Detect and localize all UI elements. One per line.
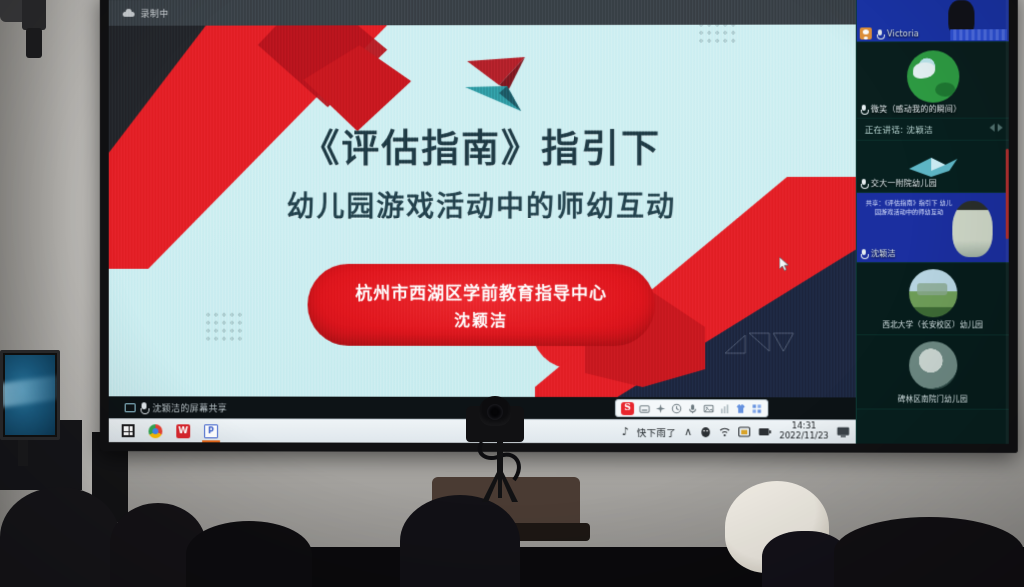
screen-share-label: 沈颖洁的屏幕共享: [152, 401, 227, 414]
ime-floating-toolbar[interactable]: S: [615, 399, 768, 417]
clock-date: 2022/11/23: [779, 431, 828, 441]
wps-icon[interactable]: W: [176, 424, 190, 438]
globe-avatar-icon: [907, 50, 959, 102]
participant-rail[interactable]: Victoria 微笑（感动我的的瞬间） 正在讲话: 沈颖洁: [856, 0, 1009, 444]
participant-tile-xibei[interactable]: 西北大学（长安校区）幼儿园: [857, 263, 1009, 335]
battery-icon[interactable]: [758, 427, 771, 436]
slide-org-line: 杭州市西湖区学前教育指导中心: [355, 279, 607, 304]
clock-time: 14:31: [792, 421, 817, 431]
image-icon[interactable]: [703, 403, 714, 414]
screenshot-icon[interactable]: [738, 426, 750, 437]
audience-head-4: [400, 495, 520, 587]
avatar-icon: [860, 27, 872, 39]
taskbar-clock[interactable]: 14:31 2022/11/23: [779, 422, 828, 442]
camera-tripod: [470, 438, 530, 504]
recording-indicator-bar: 录制中: [109, 0, 856, 26]
audience-head-3: [186, 521, 312, 587]
mic-icon: [861, 249, 867, 258]
sogou-logo-icon[interactable]: S: [621, 402, 634, 415]
mic-icon: [877, 29, 883, 38]
windows-logo-icon[interactable]: [121, 424, 134, 437]
screenshot-root: 录制中: [0, 0, 1024, 587]
taskbar-chrome[interactable]: [143, 420, 169, 442]
participant-share-caption: 共享：《评估指南》指引下 幼儿园游戏活动中的师幼互动: [863, 199, 956, 217]
audience-head-1: [0, 487, 120, 587]
participant-name: 微笑（感动我的的瞬间）: [871, 104, 962, 115]
recording-label: 录制中: [141, 6, 169, 19]
participant-name-row: 微笑（感动我的的瞬间）: [861, 104, 962, 115]
participant-name: 碑林区南院门幼儿园: [857, 393, 1009, 404]
bars-icon[interactable]: [719, 403, 730, 414]
participant-tile-shenyingjie[interactable]: 共享：《评估指南》指引下 幼儿园游戏活动中的师幼互动 沈颖洁: [857, 193, 1009, 263]
mic-icon[interactable]: [687, 403, 698, 414]
chevron-up-icon[interactable]: ∧: [684, 425, 692, 438]
participant-name: Victoria: [887, 29, 919, 38]
taskbar-powerpoint[interactable]: P: [198, 420, 224, 442]
taskbar-wps[interactable]: W: [170, 420, 196, 442]
slide-author-badge: 杭州市西湖区学前教育指导中心 沈颖洁: [308, 264, 656, 346]
powerpoint-icon[interactable]: P: [204, 424, 218, 438]
participant-name: 交大一附院幼儿园: [871, 178, 937, 189]
participant-face: [952, 201, 992, 257]
chevron-left-icon[interactable]: [990, 124, 995, 132]
audience-head-6: [834, 517, 1024, 587]
side-monitor: [0, 350, 60, 440]
active-speaker-label: 正在讲话: 沈颖洁: [865, 123, 933, 135]
side-monitor-screen: [5, 355, 55, 435]
slide-wireframe-arrows: [723, 323, 797, 361]
slide-title: 《评估指南》指引下: [109, 117, 856, 172]
taskbar-spacer: [224, 431, 622, 432]
wall-display: 录制中: [100, 0, 1018, 453]
shirt-icon[interactable]: [735, 403, 746, 414]
participant-tile-smile[interactable]: 微笑（感动我的的瞬间）: [857, 42, 1009, 118]
participant-name: 沈颖洁: [871, 248, 896, 259]
participant-name-row: 沈颖洁: [861, 248, 896, 259]
start-button[interactable]: [115, 420, 141, 442]
system-tray[interactable]: ♪ 快下雨了 ∧ 14:31 2022/11/23: [622, 422, 856, 442]
rail-scrollbar[interactable]: [1006, 0, 1009, 444]
music-note-icon[interactable]: ♪: [622, 425, 629, 438]
participant-tile-decor: [950, 29, 1006, 40]
taskbar-apps[interactable]: W P: [109, 420, 224, 442]
photo-avatar-icon: [909, 341, 957, 389]
slide-dot-grid-left: [204, 311, 244, 345]
slide-presenter-line: 沈颖洁: [454, 307, 508, 331]
landscape-avatar-icon: [909, 269, 957, 317]
cloud-icon: [123, 9, 135, 17]
display-screen: 录制中: [109, 0, 1009, 444]
participant-tile-beilin[interactable]: 碑林区南院门幼儿园: [857, 335, 1009, 409]
qq-icon[interactable]: [700, 426, 711, 438]
meeting-share-area: 录制中: [109, 0, 856, 444]
camera-lens: [479, 396, 511, 426]
grid-icon[interactable]: [751, 403, 762, 414]
side-monitor-stand: [18, 440, 28, 466]
chrome-icon[interactable]: [148, 424, 162, 438]
mic-icon: [141, 402, 148, 413]
meeting-app: 录制中: [109, 0, 1009, 444]
mouse-cursor-icon: [779, 257, 789, 271]
participant-tile-jiaoda[interactable]: 交大一附院幼儿园: [857, 141, 1009, 193]
show-desktop-icon[interactable]: [837, 427, 850, 438]
participant-name-row: Victoria: [877, 29, 919, 38]
monitor-icon: [125, 403, 136, 412]
participant-name: 西北大学（长安校区）幼儿园: [857, 319, 1009, 330]
participant-tile-victoria[interactable]: Victoria: [857, 0, 1009, 43]
presentation-slide: 《评估指南》指引下 幼儿园游戏活动中的师幼互动 杭州市西湖区学前教育指导中心 沈…: [109, 0, 856, 397]
rail-scrollbar-thumb[interactable]: [1006, 149, 1009, 239]
ptz-camera: [466, 396, 524, 442]
chevron-right-icon[interactable]: [998, 124, 1003, 132]
network-icon[interactable]: [719, 426, 730, 437]
mic-icon: [861, 105, 867, 114]
keyboard-icon[interactable]: [639, 403, 650, 414]
side-monitor-wallpaper: [0, 375, 60, 408]
sparkle-icon[interactable]: [655, 403, 666, 414]
arrow-logo-icon: [459, 55, 531, 113]
ime-status-label[interactable]: 快下雨了: [637, 425, 676, 439]
participant-name-row: 交大一附院幼儿园: [861, 178, 937, 189]
active-speaker-banner: 正在讲话: 沈颖洁: [857, 119, 1009, 141]
clock-icon[interactable]: [671, 403, 682, 414]
rail-nav-arrows[interactable]: [990, 124, 1003, 132]
ceiling-mount-bracket: [22, 0, 46, 30]
slide-subtitle: 幼儿园游戏活动中的师幼互动: [109, 185, 856, 225]
mic-icon: [861, 179, 867, 188]
